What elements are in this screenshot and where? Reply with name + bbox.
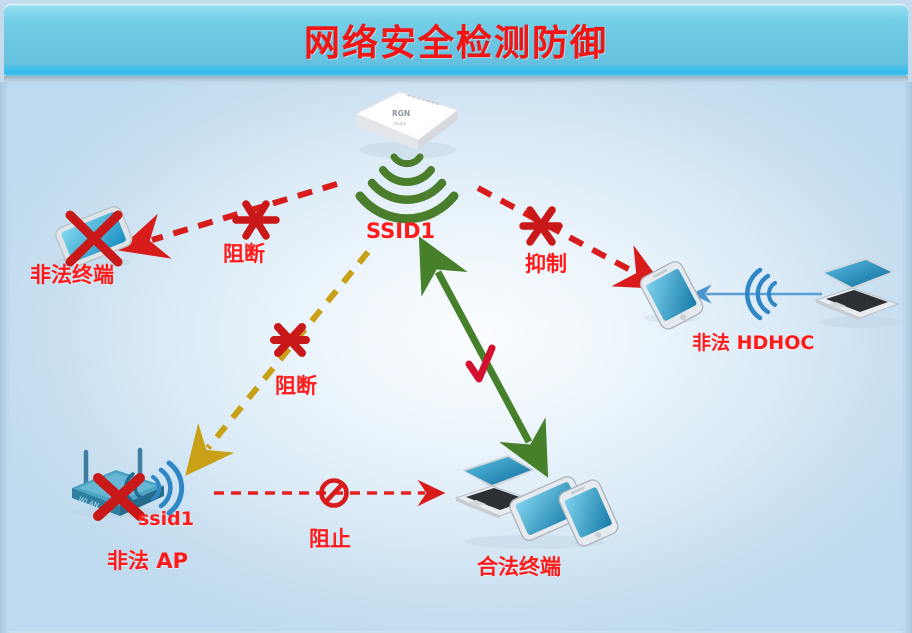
- link-label-suppress-adhoc: 抑制: [525, 248, 567, 278]
- rogue-ap-ssid-label: ssid1: [138, 508, 194, 530]
- link-label-block-terminal: 阻断: [223, 238, 265, 268]
- link-label-block-rogue-ap: 阻断: [275, 370, 317, 400]
- diagram-canvas: 网络安全检测防御: [0, 0, 912, 633]
- background-edge-right: [902, 82, 912, 633]
- rogue-adhoc-label: 非法 HDHOC: [692, 328, 814, 355]
- background-edge-left: [0, 82, 10, 633]
- title-bar-shadow: [4, 76, 908, 85]
- page-title: 网络安全检测防御: [4, 4, 908, 76]
- ap-ssid-label: SSID1: [366, 219, 435, 243]
- rogue-terminal-label: 非法终端: [30, 259, 114, 289]
- legal-terminals-label: 合法终端: [477, 551, 561, 581]
- rogue-ap-label: 非法 AP: [107, 545, 188, 575]
- title-bar: 网络安全检测防御: [4, 4, 908, 76]
- link-label-prevent: 阻止: [309, 523, 351, 553]
